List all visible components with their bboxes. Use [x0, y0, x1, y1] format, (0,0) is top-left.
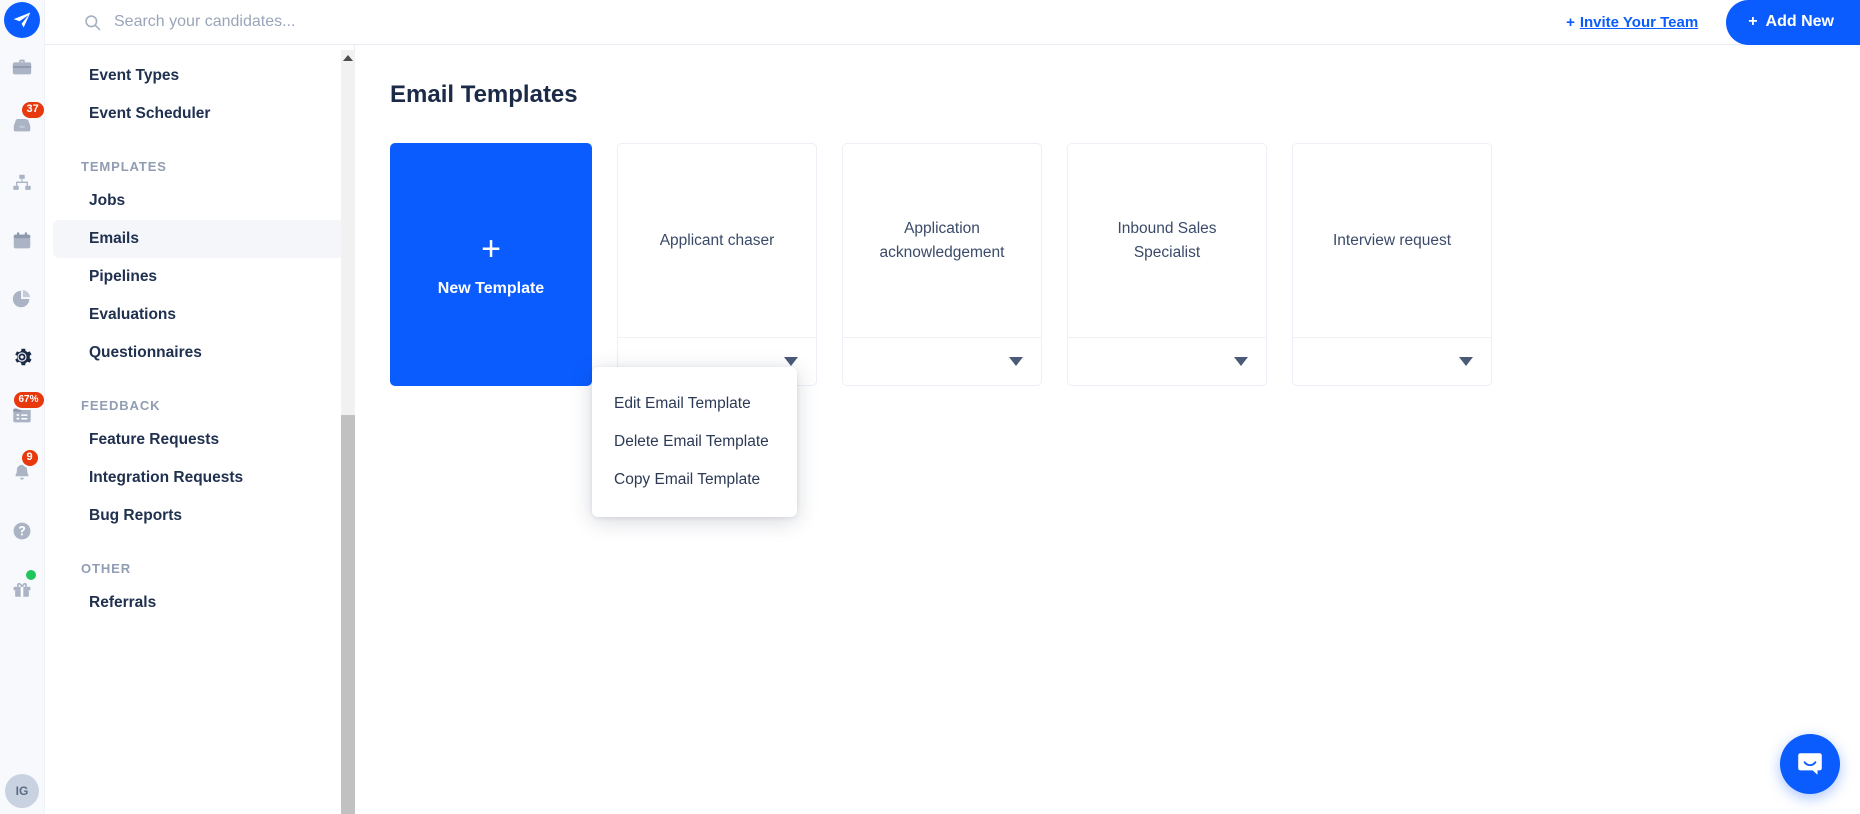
- template-card[interactable]: Applicant chaser: [617, 143, 817, 386]
- add-new-button[interactable]: + Add New: [1726, 0, 1860, 45]
- plus-icon: +: [1566, 14, 1575, 31]
- chevron-down-icon: [1009, 357, 1023, 366]
- add-new-label: Add New: [1766, 13, 1834, 31]
- rail-item-calendar[interactable]: [0, 212, 45, 270]
- new-template-card[interactable]: + New Template: [390, 143, 592, 386]
- template-card-menu-toggle[interactable]: [1068, 337, 1266, 385]
- sidebar-item-feature-requests[interactable]: Feature Requests: [53, 421, 344, 459]
- search-area: [83, 13, 1566, 32]
- template-card-grid: + New Template Applicant chaser Applicat…: [390, 143, 1820, 386]
- rail-item-whats-new[interactable]: [0, 560, 45, 618]
- chevron-down-icon: [1459, 357, 1473, 366]
- rail-item-onboarding[interactable]: 67%: [0, 386, 45, 444]
- scroll-up-arrow-icon[interactable]: [343, 55, 353, 61]
- rail-item-help[interactable]: [0, 502, 45, 560]
- template-card-body: Interview request: [1293, 144, 1491, 337]
- sidebar-item-pipelines[interactable]: Pipelines: [53, 258, 344, 296]
- sidebar-item-emails[interactable]: Emails: [53, 220, 344, 258]
- menu-item-edit-email-template[interactable]: Edit Email Template: [592, 385, 797, 423]
- plus-icon: +: [481, 232, 501, 266]
- top-bar-actions: + Invite Your Team + Add New: [1566, 0, 1860, 45]
- notifications-badge: 9: [22, 450, 38, 466]
- sidebar-item-event-scheduler[interactable]: Event Scheduler: [53, 95, 344, 133]
- template-card-menu-toggle[interactable]: [1293, 337, 1491, 385]
- paper-plane-logo-icon: [12, 10, 32, 30]
- rail-item-pipelines[interactable]: [0, 154, 45, 212]
- plus-icon: +: [1748, 13, 1757, 31]
- question-circle-icon: [11, 520, 33, 542]
- onboarding-progress-badge: 67%: [14, 392, 44, 408]
- app-logo[interactable]: [4, 2, 40, 38]
- org-chart-icon: [11, 172, 33, 194]
- rail-item-reports[interactable]: [0, 270, 45, 328]
- inbox-badge: 37: [22, 102, 44, 118]
- template-card-body: Applicant chaser: [618, 144, 816, 337]
- chat-bubble-icon: [1795, 749, 1825, 779]
- search-icon: [83, 13, 102, 32]
- user-avatar[interactable]: IG: [5, 774, 39, 808]
- sidebar-item-integration-requests[interactable]: Integration Requests: [53, 459, 344, 497]
- gear-icon: [11, 346, 33, 368]
- sidebar-item-event-types[interactable]: Event Types: [53, 57, 344, 95]
- sidebar-scrollbar-thumb[interactable]: [341, 415, 355, 814]
- rail-item-settings[interactable]: [0, 328, 45, 386]
- menu-item-copy-email-template[interactable]: Copy Email Template: [592, 461, 797, 499]
- rail-item-inbox[interactable]: 37: [0, 96, 45, 154]
- calendar-icon: [11, 230, 33, 252]
- briefcase-icon: [11, 56, 33, 78]
- gift-icon: [11, 578, 33, 600]
- sidebar-item-jobs[interactable]: Jobs: [53, 182, 344, 220]
- invite-your-team-link[interactable]: + Invite Your Team: [1566, 14, 1698, 31]
- top-bar: + Invite Your Team + Add New: [45, 0, 1860, 45]
- new-template-label: New Template: [438, 280, 544, 298]
- page-title: Email Templates: [390, 81, 1820, 109]
- menu-item-delete-email-template[interactable]: Delete Email Template: [592, 423, 797, 461]
- sidebar-item-questionnaires[interactable]: Questionnaires: [53, 334, 344, 372]
- template-card[interactable]: Application acknowledgement: [842, 143, 1042, 386]
- search-input[interactable]: [114, 13, 634, 31]
- whats-new-status-dot: [26, 570, 36, 580]
- icon-rail: 37: [0, 0, 45, 814]
- sidebar-section-other: OTHER: [45, 561, 354, 576]
- chevron-down-icon: [1234, 357, 1248, 366]
- template-card[interactable]: Inbound Sales Specialist: [1067, 143, 1267, 386]
- template-context-menu: Edit Email Template Delete Email Templat…: [592, 367, 797, 517]
- main-content: Email Templates + New Template Applicant…: [355, 45, 1860, 814]
- sidebar-item-referrals[interactable]: Referrals: [53, 584, 344, 622]
- sidebar-item-evaluations[interactable]: Evaluations: [53, 296, 344, 334]
- rail-item-jobs[interactable]: [0, 38, 45, 96]
- chat-launcher-button[interactable]: [1780, 734, 1840, 794]
- template-card[interactable]: Interview request: [1292, 143, 1492, 386]
- template-name: Inbound Sales Specialist: [1086, 217, 1248, 264]
- template-card-body: Inbound Sales Specialist: [1068, 144, 1266, 337]
- template-name: Interview request: [1333, 229, 1451, 252]
- sidebar-section-feedback: FEEDBACK: [45, 398, 354, 413]
- sidebar-section-templates: TEMPLATES: [45, 159, 354, 174]
- pie-chart-icon: [11, 288, 33, 310]
- template-name: Application acknowledgement: [861, 217, 1023, 264]
- invite-label: Invite Your Team: [1580, 14, 1698, 31]
- template-card-menu-toggle[interactable]: [843, 337, 1041, 385]
- template-card-body: Application acknowledgement: [843, 144, 1041, 337]
- sidebar-item-bug-reports[interactable]: Bug Reports: [53, 497, 344, 535]
- chevron-down-icon: [784, 357, 798, 366]
- template-name: Applicant chaser: [660, 229, 775, 252]
- rail-item-notifications[interactable]: 9: [0, 444, 45, 502]
- secondary-sidebar: Event Types Event Scheduler TEMPLATES Jo…: [45, 45, 355, 814]
- app-root: 37: [0, 0, 1860, 814]
